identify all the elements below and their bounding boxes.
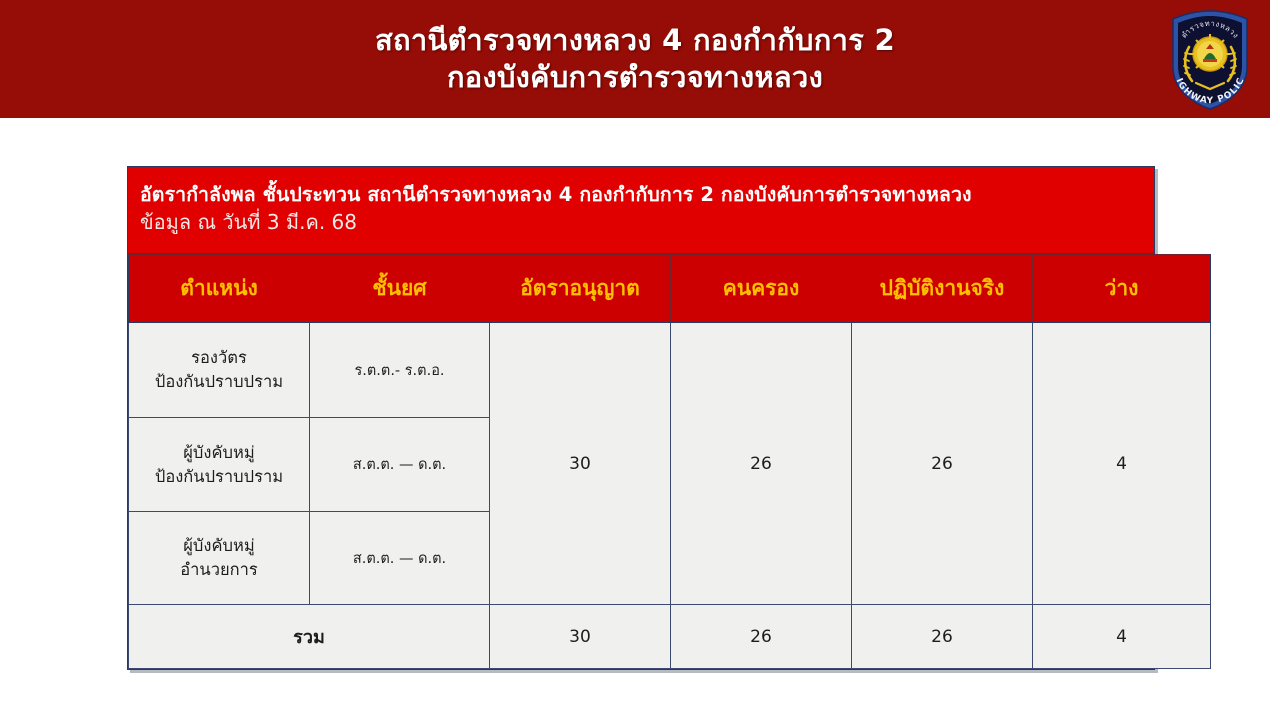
table-header: ตำแหน่ง ชั้นยศ อัตราอนุญาต คนครอง ปฏิบัต… [129,255,1211,323]
total-label: รวม [129,605,490,669]
position-line1: รองวัตร [135,346,303,370]
page-banner: สถานีตำรวจทางหลวง 4 กองกำกับการ 2 กองบัง… [0,0,1270,118]
position-line2: ป้องกันปราบปราม [135,370,303,394]
position-line1: ผู้บังคับหมู่ [135,534,303,558]
highway-police-badge: ตำรวจทางหลวง HIGHWAY POLICE [1162,9,1258,111]
table-subtitle: ข้อมูล ณ วันที่ 3 มี.ค. 68 [140,209,1142,235]
cell-position: ผู้บังคับหมู่ ป้องกันปราบปราม [129,418,310,512]
column-header-occupied: คนครอง [671,255,852,323]
personnel-table-card: อัตรากำลังพล ชั้นประทวน สถานีตำรวจทางหลว… [127,166,1155,670]
table-body: รองวัตร ป้องกันปราบปราม ร.ต.ต.- ร.ต.อ. 3… [129,323,1211,669]
cell-rank: ร.ต.ต.- ร.ต.อ. [310,323,490,418]
cell-position: รองวัตร ป้องกันปราบปราม [129,323,310,418]
position-line2: ป้องกันปราบปราม [135,465,303,489]
cell-actual-duty-merged: 26 [852,323,1033,605]
banner-title: สถานีตำรวจทางหลวง 4 กองกำกับการ 2 กองบัง… [375,22,895,96]
personnel-table: ตำแหน่ง ชั้นยศ อัตราอนุญาต คนครอง ปฏิบัต… [128,254,1211,669]
position-line2: อำนวยการ [135,558,303,582]
column-header-authorized: อัตราอนุญาต [490,255,671,323]
column-header-vacant: ว่าง [1033,255,1211,323]
banner-title-line1: สถานีตำรวจทางหลวง 4 กองกำกับการ 2 [375,23,895,57]
cell-vacant-merged: 4 [1033,323,1211,605]
total-authorized: 30 [490,605,671,669]
cell-occupied-merged: 26 [671,323,852,605]
position-line1: ผู้บังคับหมู่ [135,441,303,465]
table-total-row: รวม 30 26 26 4 [129,605,1211,669]
column-header-actual-duty: ปฏิบัติงานจริง [852,255,1033,323]
banner-title-line2: กองบังคับการตำรวจทางหลวง [375,59,895,96]
cell-authorized-merged: 30 [490,323,671,605]
cell-rank: ส.ต.ต. — ด.ต. [310,418,490,512]
table-row: รองวัตร ป้องกันปราบปราม ร.ต.ต.- ร.ต.อ. 3… [129,323,1211,418]
total-actual-duty: 26 [852,605,1033,669]
table-header-row: ตำแหน่ง ชั้นยศ อัตราอนุญาต คนครอง ปฏิบัต… [129,255,1211,323]
column-header-position: ตำแหน่ง [129,255,310,323]
column-header-rank: ชั้นยศ [310,255,490,323]
table-title: อัตรากำลังพล ชั้นประทวน สถานีตำรวจทางหลว… [140,183,1142,207]
total-occupied: 26 [671,605,852,669]
table-title-band: อัตรากำลังพล ชั้นประทวน สถานีตำรวจทางหลว… [128,167,1154,254]
cell-rank: ส.ต.ต. — ด.ต. [310,512,490,605]
total-vacant: 4 [1033,605,1211,669]
cell-position: ผู้บังคับหมู่ อำนวยการ [129,512,310,605]
